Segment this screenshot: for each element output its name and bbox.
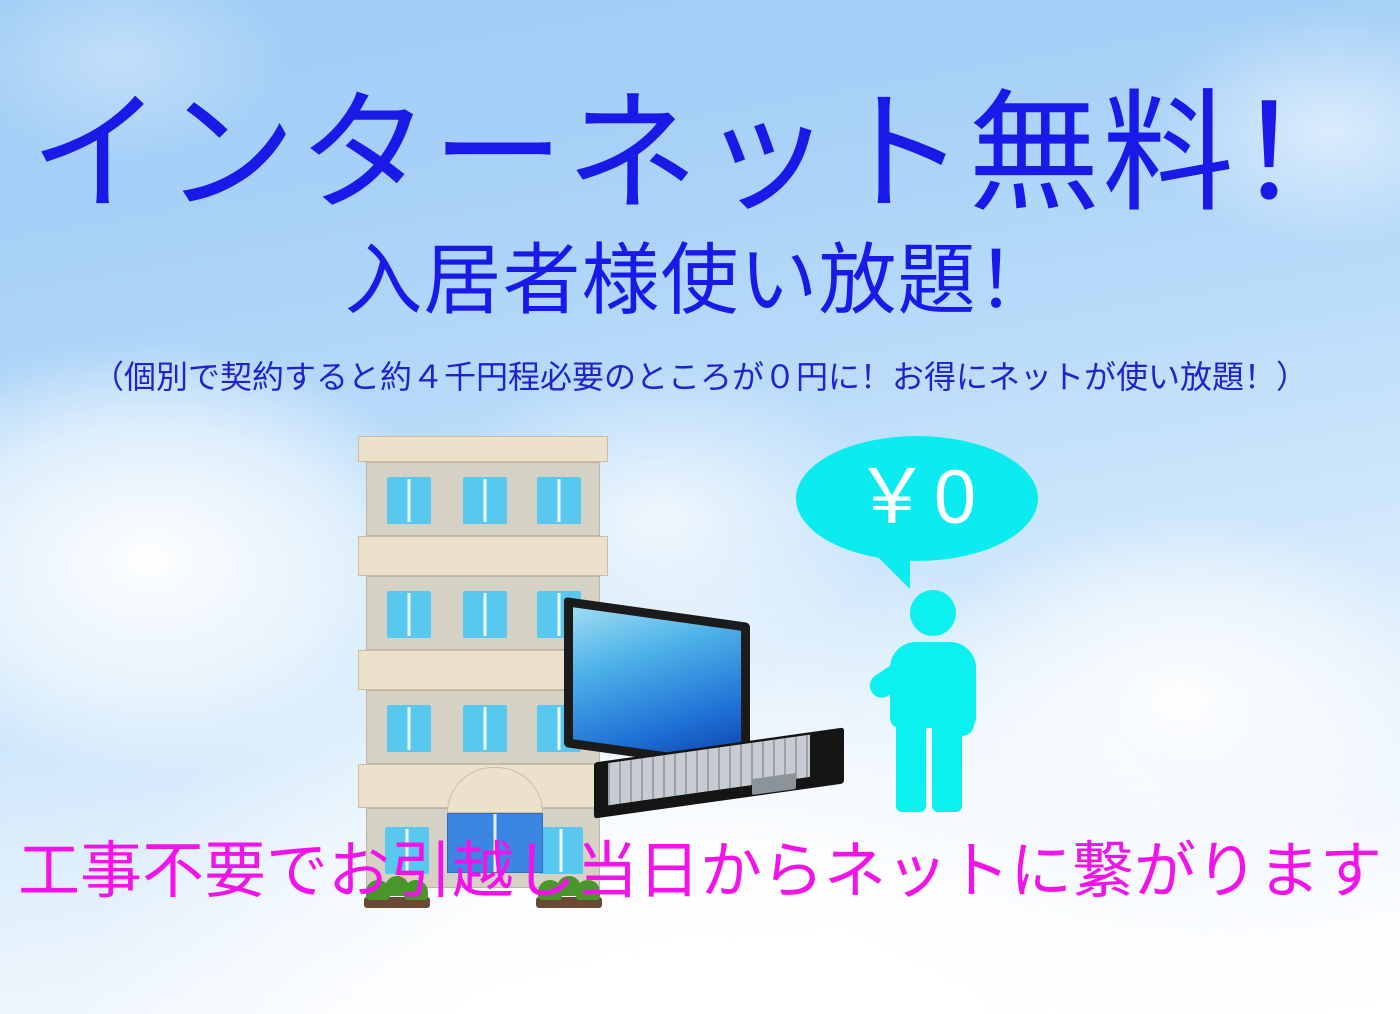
poster-canvas: ￥0 インターネット無料！ 入居者様使い放題！ （個別で契約すると約４千円程必要… [0, 0, 1400, 1014]
poster-tagline: 工事不要でお引越し当日からネットに繋がります [0, 834, 1400, 910]
building-floor-4 [366, 462, 600, 536]
window-icon [387, 591, 431, 638]
poster-note: （個別で契約すると約４千円程必要のところが０円に！お得にネットが使い放題！） [0, 355, 1400, 399]
building-band [358, 536, 608, 576]
window-icon [463, 477, 507, 524]
laptop-screen [573, 607, 741, 763]
building-roof [358, 436, 608, 462]
laptop-illustration [556, 610, 846, 810]
poster-subtitle: 入居者様使い放題！ [0, 237, 1400, 323]
person-head [910, 590, 956, 636]
poster-title: インターネット無料！ [0, 84, 1400, 224]
speech-bubble-text: ￥0 [796, 458, 1038, 538]
person-illustration [862, 590, 986, 812]
person-right-leg [932, 718, 962, 812]
window-icon [463, 705, 507, 752]
window-icon [387, 477, 431, 524]
window-icon [463, 591, 507, 638]
window-icon [537, 477, 581, 524]
speech-bubble-tail [866, 545, 910, 589]
person-left-leg [896, 718, 926, 812]
window-icon [387, 705, 431, 752]
speech-bubble: ￥0 [796, 436, 1038, 561]
